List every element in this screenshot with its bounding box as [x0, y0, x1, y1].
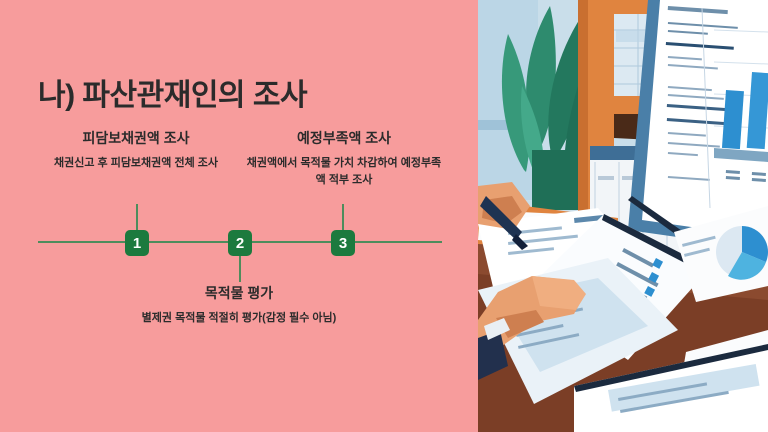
slide-root: 나) 파산관재인의 조사 1 2 3 피담보채권액 조사 채권신고 후 피담보채…	[0, 0, 768, 432]
timeline-label-group-2: 목적물 평가 별제권 목적물 적절히 평가(감정 필수 아님)	[130, 283, 348, 327]
timeline-label-group-3: 예정부족액 조사 채권액에서 목적물 가치 차감하여 예정부족액 적부 조사	[245, 128, 443, 188]
timeline-connector-2	[239, 252, 241, 282]
left-content-panel: 나) 파산관재인의 조사 1 2 3 피담보채권액 조사 채권신고 후 피담보채…	[0, 0, 478, 432]
timeline-node-1[interactable]: 1	[125, 230, 149, 256]
page-title: 나) 파산관재인의 조사	[38, 70, 307, 114]
timeline-description-3: 채권액에서 목적물 가치 차감하여 예정부족액 적부 조사	[245, 155, 443, 188]
timeline-label-group-1: 피담보채권액 조사 채권신고 후 피담보채권액 전체 조사	[37, 128, 235, 172]
timeline-node-2[interactable]: 2	[228, 230, 252, 256]
office-desk-documents-illustration: $ & €	[478, 0, 768, 432]
timeline-description-1: 채권신고 후 피담보채권액 전체 조사	[37, 155, 235, 172]
timeline-description-2: 별제권 목적물 적절히 평가(감정 필수 아님)	[130, 310, 348, 327]
timeline-heading-3: 예정부족액 조사	[245, 128, 443, 148]
timeline-heading-1: 피담보채권액 조사	[37, 128, 235, 148]
timeline-node-3[interactable]: 3	[331, 230, 355, 256]
timeline-heading-2: 목적물 평가	[130, 283, 348, 303]
